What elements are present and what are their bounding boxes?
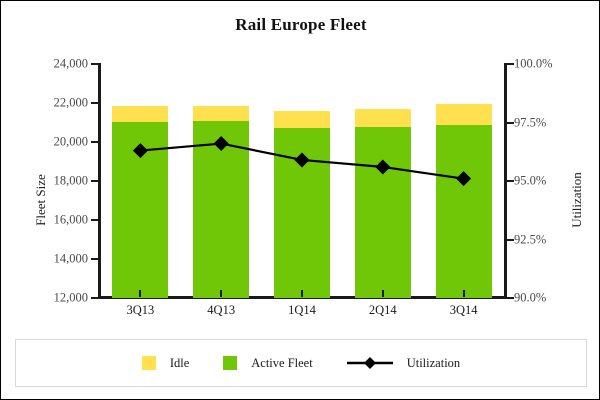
legend-label-idle: Idle bbox=[170, 356, 189, 371]
y-tick-right bbox=[507, 297, 514, 299]
y-tick-left bbox=[91, 102, 98, 104]
x-tick bbox=[139, 290, 141, 297]
y-tick-right bbox=[507, 122, 514, 124]
legend-line-diamond-icon bbox=[347, 356, 393, 370]
y-axis-title-right: Utilization bbox=[569, 172, 585, 228]
y-tick-label-left: 14,000 bbox=[54, 252, 88, 267]
x-tick bbox=[220, 290, 222, 297]
y-tick-label-right: 100.0% bbox=[514, 57, 553, 72]
y-tick-label-left: 24,000 bbox=[54, 57, 88, 72]
y-tick-label-left: 12,000 bbox=[54, 291, 88, 306]
y-tick-label-right: 95.0% bbox=[514, 174, 546, 189]
legend-swatch-idle bbox=[142, 356, 156, 370]
y-tick-label-left: 18,000 bbox=[54, 174, 88, 189]
y-tick-left bbox=[91, 219, 98, 221]
utilization-marker[interactable] bbox=[214, 136, 229, 151]
y-tick-right bbox=[507, 239, 514, 241]
x-tick-label: 2Q14 bbox=[369, 303, 397, 318]
y-tick-label-left: 22,000 bbox=[54, 96, 88, 111]
x-tick bbox=[382, 290, 384, 297]
y-tick-left bbox=[91, 258, 98, 260]
utilization-marker[interactable] bbox=[295, 152, 310, 167]
y-tick-right bbox=[507, 63, 514, 65]
legend-item-active-fleet[interactable]: Active Fleet bbox=[223, 356, 312, 371]
utilization-marker[interactable] bbox=[375, 159, 390, 174]
x-tick-label: 3Q13 bbox=[127, 303, 155, 318]
x-tick-label: 4Q13 bbox=[207, 303, 235, 318]
legend-swatch-active-fleet bbox=[223, 356, 237, 370]
y-tick-right bbox=[507, 180, 514, 182]
chart-title: Rail Europe Fleet bbox=[1, 15, 600, 35]
utilization-marker[interactable] bbox=[456, 171, 471, 186]
y-axis-title-left: Fleet Size bbox=[33, 174, 49, 226]
y-tick-left bbox=[91, 180, 98, 182]
legend-item-idle[interactable]: Idle bbox=[142, 356, 189, 371]
x-tick bbox=[301, 290, 303, 297]
y-tick-label-right: 90.0% bbox=[514, 291, 546, 306]
utilization-line-series bbox=[100, 64, 504, 298]
chart-legend: Idle Active Fleet Utilization bbox=[15, 339, 587, 387]
y-tick-label-left: 20,000 bbox=[54, 135, 88, 150]
y-tick-left bbox=[91, 297, 98, 299]
y-tick-left bbox=[91, 141, 98, 143]
legend-label-active-fleet: Active Fleet bbox=[251, 356, 312, 371]
y-tick-label-right: 92.5% bbox=[514, 232, 546, 247]
chart-frame: Rail Europe Fleet Fleet Size Utilization… bbox=[0, 0, 600, 400]
utilization-marker[interactable] bbox=[133, 143, 148, 158]
y-tick-label-right: 97.5% bbox=[514, 115, 546, 130]
x-tick-label: 1Q14 bbox=[288, 303, 316, 318]
x-tick bbox=[463, 290, 465, 297]
legend-item-utilization[interactable]: Utilization bbox=[347, 356, 460, 371]
y-tick-label-left: 16,000 bbox=[54, 213, 88, 228]
legend-label-utilization: Utilization bbox=[407, 356, 460, 371]
x-tick-label: 3Q14 bbox=[450, 303, 478, 318]
y-tick-left bbox=[91, 63, 98, 65]
